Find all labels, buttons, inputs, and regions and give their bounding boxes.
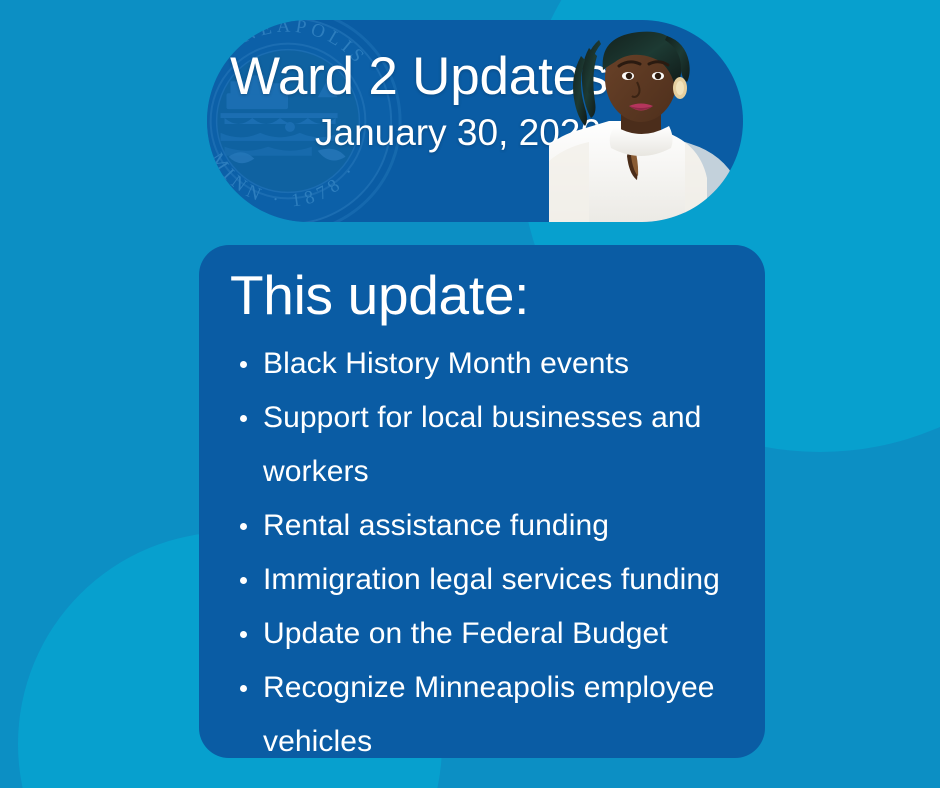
- list-item: Recognize Minneapolis employee vehicles: [230, 661, 739, 769]
- list-item: Rental assistance funding: [230, 499, 739, 553]
- list-item: Support for local businesses and workers: [230, 391, 739, 499]
- bullet-icon: [240, 631, 247, 638]
- headshot-photo: [549, 26, 739, 222]
- update-bullet-list: Black History Month events Support for l…: [230, 337, 739, 769]
- bullet-icon: [240, 685, 247, 692]
- list-item-label: Update on the Federal Budget: [263, 617, 668, 650]
- bullet-icon: [240, 523, 247, 530]
- list-item-label: Black History Month events: [263, 347, 629, 380]
- bullet-icon: [240, 415, 247, 422]
- bullet-icon: [240, 577, 247, 584]
- newsletter-graphic: MINNEAPOLIS MINN · 1878 · Ward 2 Updates…: [0, 0, 940, 788]
- list-item: Black History Month events: [230, 337, 739, 391]
- list-item-label: Support for local businesses and workers: [263, 401, 701, 488]
- list-item-label: Rental assistance funding: [263, 509, 609, 542]
- card-title: This update:: [230, 259, 739, 331]
- list-item-label: Immigration legal services funding: [263, 563, 720, 596]
- bullet-icon: [240, 361, 247, 368]
- header-banner: MINNEAPOLIS MINN · 1878 · Ward 2 Updates…: [207, 20, 743, 222]
- update-card: This update: Black History Month events …: [199, 245, 765, 758]
- list-item: Immigration legal services funding: [230, 553, 739, 607]
- list-item-label: Recognize Minneapolis employee vehicles: [263, 671, 715, 758]
- list-item: Update on the Federal Budget: [230, 607, 739, 661]
